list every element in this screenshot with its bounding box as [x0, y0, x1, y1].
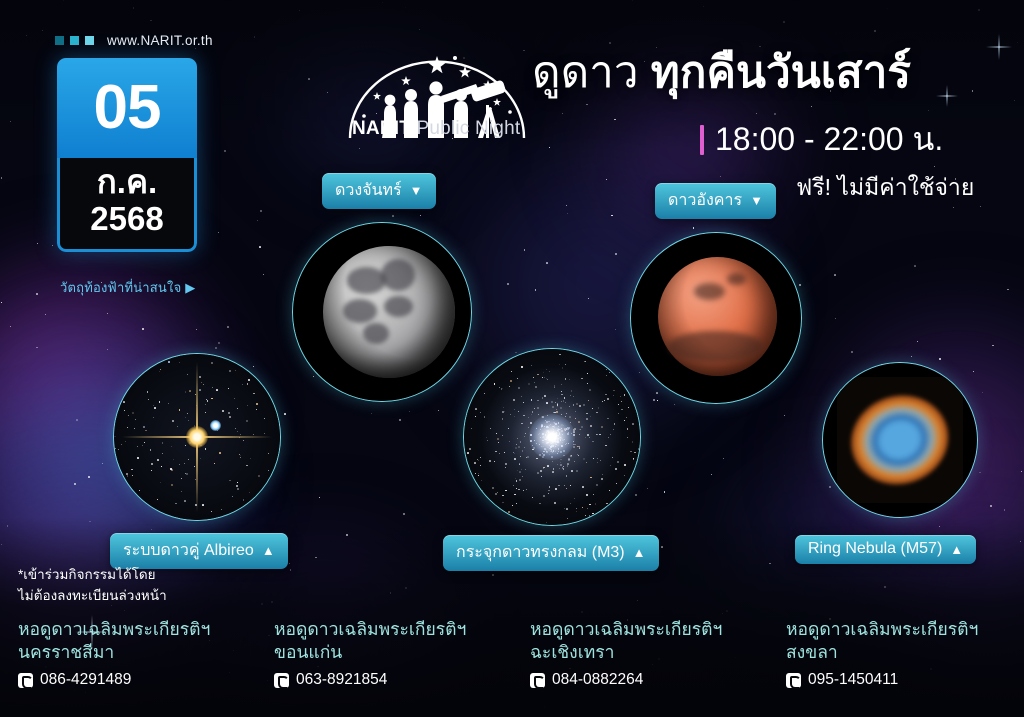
lunar-mare	[363, 323, 389, 344]
star-core	[186, 426, 208, 448]
nebula-photo	[837, 377, 963, 503]
label-ring-nebula[interactable]: Ring Nebula (M57) ▲	[795, 535, 976, 564]
date-day: 05	[94, 77, 161, 139]
divider-bar	[700, 125, 704, 155]
label-moon-text: ดวงจันทร์	[335, 178, 402, 203]
event-time-text: 18:00 - 22:00 น.	[715, 114, 943, 165]
phone-icon	[18, 673, 33, 688]
contact-name-line-1: หอดูดาวเฉลิมพระเกียรติฯ	[274, 618, 512, 641]
logo-wordmark: NARIT Public Night	[352, 118, 520, 140]
chevron-up-icon: ▲	[262, 544, 275, 557]
contact-phone[interactable]: 084-0882264	[530, 671, 768, 689]
lunar-mare	[343, 299, 377, 323]
label-mars-text: ดาวอังคาร	[668, 188, 742, 213]
contact-card: หอดูดาวเฉลิมพระเกียรติฯ นครราชสีมา 086-4…	[0, 618, 256, 689]
square-marker-icon	[70, 36, 79, 45]
registration-note-line-1: *เข้าร่วมกิจกรรมได้โดย	[18, 565, 167, 586]
contacts-row: หอดูดาวเฉลิมพระเกียรติฯ นครราชสีมา 086-4…	[0, 618, 1024, 689]
chevron-down-icon: ▼	[410, 184, 423, 197]
albireo-image-inner	[114, 354, 280, 520]
contact-name-line-2: สงขลา	[786, 641, 1024, 664]
contact-card: หอดูดาวเฉลิมพระเกียรติฯ สงขลา 095-145041…	[768, 618, 1024, 689]
contact-name-line-1: หอดูดาวเฉลิมพระเกียรติฯ	[18, 618, 256, 641]
page-title: ดูดาว ทุกคืนวันเสาร์	[532, 48, 911, 97]
ring-nebula-image	[822, 362, 978, 518]
square-marker-icon	[55, 36, 64, 45]
moon-image-inner	[293, 223, 471, 401]
contact-name-line-2: ขอนแก่น	[274, 641, 512, 664]
chevron-up-icon: ▲	[950, 543, 963, 556]
free-admission-text: ฟรี! ไม่มีค่าใช้จ่าย	[796, 170, 974, 206]
logo-brand: NARIT	[352, 118, 411, 139]
date-card-body: ก.ค. 2568	[57, 158, 197, 252]
label-ring-nebula-text: Ring Nebula (M57)	[808, 540, 942, 558]
contact-name-line-2: นครราชสีมา	[18, 641, 256, 664]
ring-image-inner	[823, 363, 977, 517]
phone-icon	[530, 673, 545, 688]
contact-phone[interactable]: 063-8921854	[274, 671, 512, 689]
contact-card: หอดูดาวเฉลิมพระเกียรติฯ ขอนแก่น 063-8921…	[256, 618, 512, 689]
mars-image	[630, 232, 802, 404]
nebula-ring	[839, 383, 960, 497]
headline-part-1: ดูดาว	[532, 48, 651, 97]
logo-suffix: Public Night	[411, 118, 520, 139]
phone-icon	[274, 673, 289, 688]
lunar-mare	[384, 296, 413, 317]
square-marker-icon	[85, 36, 94, 45]
contact-name-line-1: หอดูดาวเฉลิมพระเกียรติฯ	[530, 618, 768, 641]
contact-phone[interactable]: 086-4291489	[18, 671, 256, 689]
website-url[interactable]: www.NARIT.or.th	[55, 33, 213, 48]
objects-note: วัตถุท้องฟ้าที่น่าสนใจ ▶	[60, 277, 195, 298]
headline-part-2: ทุกคืนวันเสาร์	[651, 48, 911, 97]
registration-note: *เข้าร่วมกิจกรรมได้โดย ไม่ต้องลงทะเบียนล…	[18, 565, 167, 607]
contact-phone-number: 084-0882264	[552, 671, 643, 689]
contact-name-line-1: หอดูดาวเฉลิมพระเกียรติฯ	[786, 618, 1024, 641]
moon-image	[292, 222, 472, 402]
date-year: 2568	[60, 202, 194, 237]
contact-phone-number: 095-1450411	[808, 671, 898, 689]
mars-image-inner	[631, 233, 801, 403]
cluster-core	[529, 414, 575, 460]
chevron-up-icon: ▲	[633, 546, 646, 559]
moon-disc	[323, 246, 455, 378]
registration-note-line-2: ไม่ต้องลงทะเบียนล่วงหน้า	[18, 586, 167, 607]
label-albireo[interactable]: ระบบดาวคู่ Albireo ▲	[110, 533, 288, 569]
label-m3[interactable]: กระจุกดาวทรงกลม (M3) ▲	[443, 535, 659, 571]
url-text: www.NARIT.or.th	[107, 33, 213, 48]
label-mars[interactable]: ดาวอังคาร ▼	[655, 183, 776, 219]
phone-icon	[786, 673, 801, 688]
contact-card: หอดูดาวเฉลิมพระเกียรติฯ ฉะเชิงเทรา 084-0…	[512, 618, 768, 689]
contact-phone-number: 086-4291489	[40, 671, 131, 689]
chevron-down-icon: ▼	[750, 194, 763, 207]
lunar-mare	[381, 259, 415, 291]
contact-phone[interactable]: 095-1450411	[786, 671, 1024, 689]
mars-disc	[658, 257, 777, 376]
mars-albedo-feature	[727, 273, 746, 285]
label-m3-text: กระจุกดาวทรงกลม (M3)	[456, 540, 625, 565]
contact-name-line-2: ฉะเชิงเทรา	[530, 641, 768, 664]
mars-albedo-feature	[668, 331, 763, 362]
m3-image-inner	[464, 349, 640, 525]
date-card-header: 05	[57, 58, 197, 158]
label-albireo-text: ระบบดาวคู่ Albireo	[123, 538, 254, 563]
label-moon[interactable]: ดวงจันทร์ ▼	[322, 173, 436, 209]
event-time: 18:00 - 22:00 น.	[700, 114, 943, 165]
albireo-image	[113, 353, 281, 521]
date-month: ก.ค.	[60, 163, 194, 202]
date-card: 05 ก.ค. 2568	[57, 58, 197, 252]
contact-phone-number: 063-8921854	[296, 671, 387, 689]
m3-cluster-image	[463, 348, 641, 526]
mars-albedo-feature	[694, 283, 725, 300]
